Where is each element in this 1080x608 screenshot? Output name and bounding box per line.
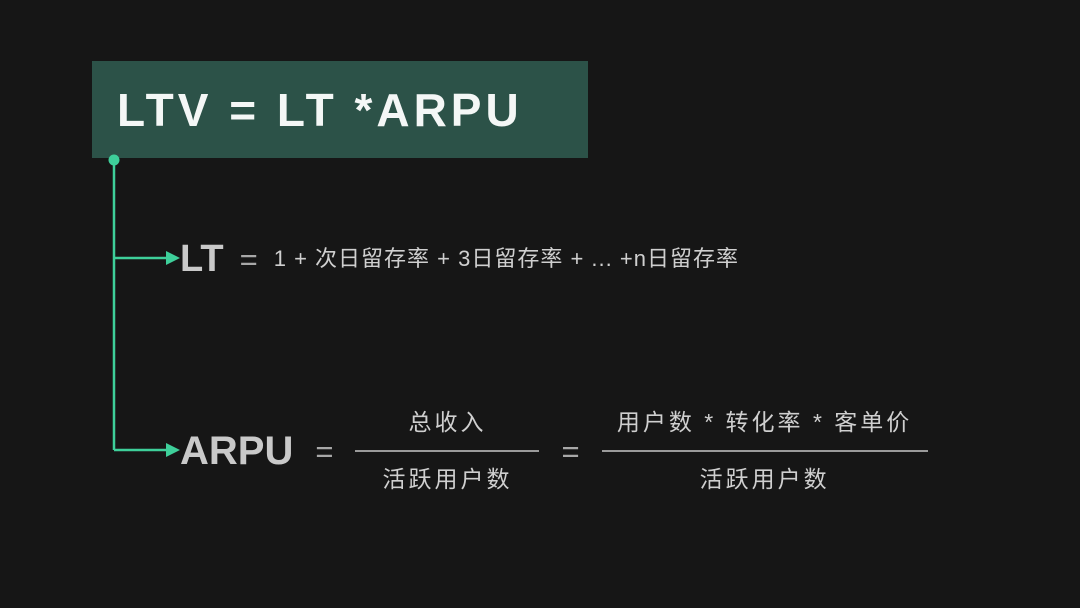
arpu-equals-sign-first: = bbox=[315, 436, 333, 467]
title-formula-text: LTV = LT *ARPU bbox=[92, 87, 523, 133]
slide-canvas: LTV = LT *ARPU LT = 1 + 次日留存率 + 3日留存率 + … bbox=[0, 0, 1080, 608]
lt-formula-row: LT = 1 + 次日留存率 + 3日留存率 + ... +n日留存率 bbox=[180, 231, 739, 287]
arpu-formula-row: ARPU = 总收入 活跃用户数 = 用户数 * 转化率 * 客单价 活跃用户数 bbox=[180, 418, 928, 484]
arpu-fraction-left-denominator: 活跃用户数 bbox=[382, 468, 512, 491]
lt-equals-sign: = bbox=[240, 244, 258, 275]
lt-expression: 1 + 次日留存率 + 3日留存率 + ... +n日留存率 bbox=[274, 248, 739, 270]
arpu-fraction-right-numerator: 用户数 * 转化率 * 客单价 bbox=[617, 411, 912, 434]
arpu-fraction-left: 总收入 活跃用户数 bbox=[355, 411, 539, 491]
arpu-fraction-right-bar bbox=[602, 450, 928, 452]
arpu-branch-arrow bbox=[166, 443, 180, 457]
arpu-equals-sign-second: = bbox=[561, 436, 579, 467]
arpu-fraction-left-numerator: 总收入 bbox=[408, 411, 486, 434]
arpu-fraction-right: 用户数 * 转化率 * 客单价 活跃用户数 bbox=[602, 411, 928, 491]
arpu-fraction-right-denominator: 活跃用户数 bbox=[700, 468, 830, 491]
arpu-term-label: ARPU bbox=[180, 431, 293, 471]
arpu-fraction-left-bar bbox=[355, 450, 539, 452]
title-banner: LTV = LT *ARPU bbox=[92, 61, 588, 158]
lt-term-label: LT bbox=[180, 240, 224, 278]
lt-branch-arrow bbox=[166, 251, 180, 265]
